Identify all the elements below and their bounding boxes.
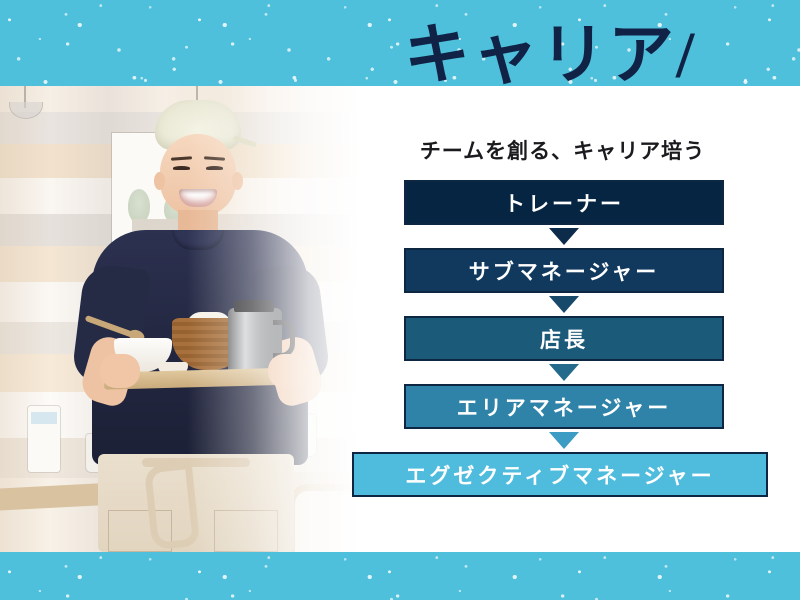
career-step-label: エグゼクティブマネージャー	[405, 460, 714, 490]
staff-photo	[0, 86, 360, 552]
career-step-box[interactable]: エリアマネージャー	[404, 384, 724, 429]
flow-down-arrow-icon	[404, 293, 724, 316]
career-step-label: エリアマネージャー	[457, 392, 672, 422]
career-step-box[interactable]: サブマネージャー	[404, 248, 724, 293]
page-subtitle: チームを創る、キャリア培う	[390, 135, 735, 165]
career-step-label: 店長	[540, 324, 588, 354]
career-step-label: サブマネージャー	[469, 256, 660, 286]
flow-down-arrow-icon	[404, 225, 724, 248]
photo-white-fade	[0, 86, 360, 552]
career-step-box[interactable]: エグゼクティブマネージャー	[352, 452, 768, 497]
career-step-label: トレーナー	[504, 188, 624, 218]
speckle-pattern-bottom	[0, 552, 800, 600]
career-path-poster: キャリア/ チームを創る、キャリア培う トレーナーサブマネージャー店長エリアマネ…	[0, 0, 800, 600]
bottom-decorative-band	[0, 552, 800, 600]
career-step-box[interactable]: トレーナー	[404, 180, 724, 225]
page-title: キャリア/	[404, 18, 724, 95]
flow-down-arrow-icon	[404, 361, 724, 384]
flow-down-arrow-icon	[404, 429, 724, 452]
career-step-box[interactable]: 店長	[404, 316, 724, 361]
career-path-flow: トレーナーサブマネージャー店長エリアマネージャーエグゼクティブマネージャー	[352, 180, 772, 497]
